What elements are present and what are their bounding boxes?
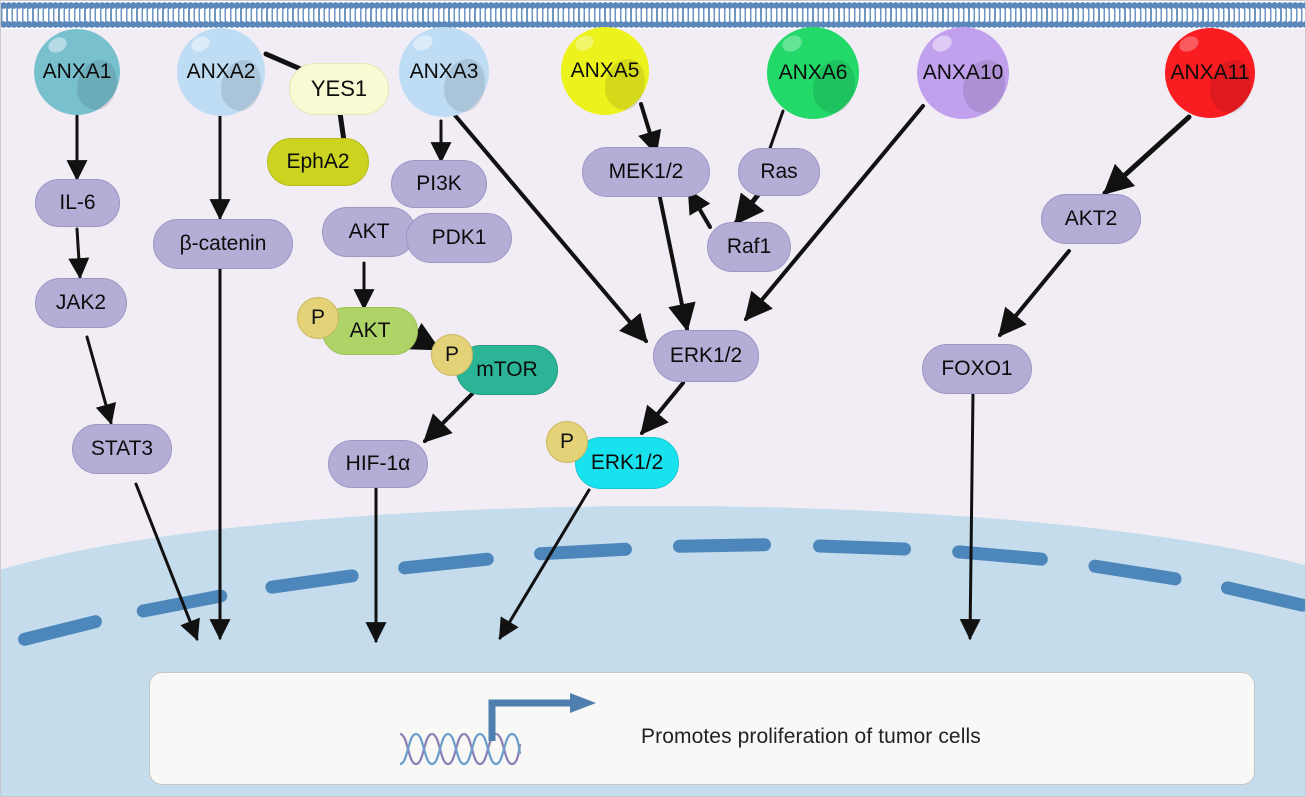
node-label: Ras: [760, 160, 797, 184]
node-label: FOXO1: [941, 357, 1012, 381]
nucleus-statement-text: Promotes proliferation of tumor cells: [641, 725, 1161, 749]
node-anxa6[interactable]: ANXA6: [767, 27, 859, 119]
node-label: ERK1/2: [670, 344, 742, 368]
node-label: ANXA5: [571, 59, 640, 83]
edge-anxa11-akt2: [1105, 117, 1189, 193]
transcription-arrow-icon: [486, 693, 598, 743]
plasma-membrane: [1, 1, 1306, 29]
edge-anxa10-erk12: [746, 106, 923, 319]
edge-ras-raf1: [736, 191, 761, 223]
edge-akt2-foxo1: [1000, 251, 1069, 335]
node-hif1a[interactable]: HIF-1α: [328, 440, 428, 488]
node-phospho-erk12[interactable]: ERK1/2: [575, 437, 679, 489]
node-label: β-catenin: [180, 232, 267, 256]
node-label: PI3K: [416, 172, 462, 196]
nuclear-pore: [673, 538, 771, 553]
phospho-label: P: [560, 430, 574, 454]
node-yes1[interactable]: YES1: [289, 63, 389, 115]
node-label: ANXA10: [923, 61, 1004, 85]
edge-jak2-stat3: [87, 337, 111, 423]
edge-il6-jak2: [77, 229, 80, 277]
node-label: mTOR: [476, 358, 537, 382]
node-pdk1[interactable]: PDK1: [406, 213, 512, 263]
node-label: AKT2: [1065, 207, 1118, 231]
node-label: MEK1/2: [609, 160, 684, 184]
node-label: STAT3: [91, 437, 153, 461]
node-beta-catenin[interactable]: β-catenin: [153, 219, 293, 269]
node-foxo1[interactable]: FOXO1: [922, 344, 1032, 394]
phospho-badge-mtor: P: [431, 334, 473, 376]
node-label: EphA2: [286, 150, 349, 174]
node-stat3[interactable]: STAT3: [72, 424, 172, 474]
edge-mtor-hif1a: [425, 394, 472, 441]
edge-yes1-epha2: [340, 113, 344, 141]
node-anxa1[interactable]: ANXA1: [34, 29, 120, 115]
node-pi3k[interactable]: PI3K: [391, 160, 487, 208]
phospho-label: P: [311, 306, 325, 330]
node-erk12[interactable]: ERK1/2: [653, 330, 759, 382]
node-label: AKT: [349, 220, 390, 244]
node-label: ERK1/2: [591, 451, 663, 475]
phospho-badge-akt: P: [297, 297, 339, 339]
phospho-badge-erk12: P: [546, 421, 588, 463]
node-label: YES1: [311, 76, 367, 102]
node-label: ANXA11: [1171, 61, 1250, 85]
edge-anxa5-mek12: [641, 104, 656, 153]
node-raf1[interactable]: Raf1: [707, 222, 791, 272]
edge-erk12-perk12: [642, 383, 683, 433]
node-label: ANXA6: [779, 61, 848, 85]
edge-mek12-erk12: [659, 193, 687, 329]
node-label: ANXA1: [43, 60, 112, 84]
node-jak2[interactable]: JAK2: [35, 278, 127, 328]
node-epha2[interactable]: EphA2: [267, 138, 369, 186]
node-label: AKT: [350, 319, 391, 343]
node-anxa10[interactable]: ANXA10: [917, 27, 1009, 119]
node-anxa2[interactable]: ANXA2: [177, 28, 265, 116]
node-akt2[interactable]: AKT2: [1041, 194, 1141, 244]
node-label: Raf1: [727, 235, 771, 259]
node-label: JAK2: [56, 291, 106, 315]
node-anxa3[interactable]: ANXA3: [399, 27, 489, 117]
node-label: HIF-1α: [346, 452, 411, 476]
edge-raf1-mek12: [689, 191, 710, 227]
node-anxa5[interactable]: ANXA5: [561, 27, 649, 115]
node-il6[interactable]: IL-6: [35, 179, 120, 227]
node-label: IL-6: [59, 191, 95, 215]
edge-anxa6-ras: [769, 111, 783, 151]
node-label: ANXA3: [410, 60, 479, 84]
node-ras[interactable]: Ras: [738, 148, 820, 196]
node-label: PDK1: [432, 226, 487, 250]
node-label: ANXA2: [187, 60, 256, 84]
node-akt[interactable]: AKT: [322, 207, 416, 257]
node-anxa11[interactable]: ANXA11: [1165, 28, 1255, 118]
node-mek12[interactable]: MEK1/2: [582, 147, 710, 197]
pathway-diagram: Promotes proliferation of tumor cells: [0, 0, 1306, 797]
phospho-label: P: [445, 343, 459, 367]
